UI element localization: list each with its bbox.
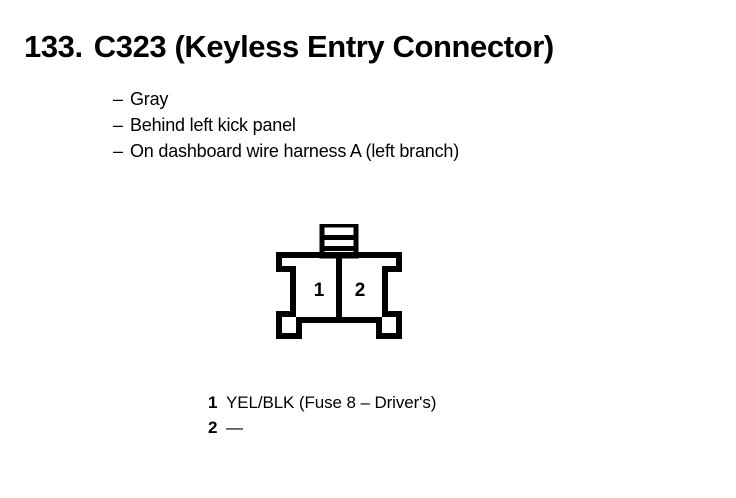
title-text: C323 (Keyless Entry Connector) [94, 31, 554, 62]
tab-slot-divider-upper [324, 235, 354, 240]
cavity-number-2: 2 [355, 280, 366, 301]
pin-legend-number: 2 [208, 415, 226, 440]
pin-legend-description: — [226, 415, 243, 440]
connector-diagram: 1 2 [275, 224, 460, 342]
note-item: – On dashboard wire harness A (left bran… [113, 138, 673, 164]
page-canvas: 133. C323 (Keyless Entry Connector) – Gr… [0, 0, 736, 498]
cavity-number-1: 1 [314, 280, 325, 301]
page-title: 133. C323 (Keyless Entry Connector) [24, 31, 554, 62]
note-item-label: On dashboard wire harness A (left branch… [130, 138, 459, 164]
pin-legend-description: YEL/BLK (Fuse 8 – Driver's) [226, 390, 436, 415]
pin-legend-row: 2 — [208, 415, 436, 440]
note-item: – Gray [113, 86, 673, 112]
note-item-label: Behind left kick panel [130, 112, 296, 138]
notes-list: – Gray – Behind left kick panel – On das… [113, 86, 673, 164]
note-item: – Behind left kick panel [113, 112, 673, 138]
bullet-dash-icon: – [113, 112, 130, 138]
pin-legend-row: 1 YEL/BLK (Fuse 8 – Driver's) [208, 390, 436, 415]
bullet-dash-icon: – [113, 86, 130, 112]
bullet-dash-icon: – [113, 138, 130, 164]
pin-legend: 1 YEL/BLK (Fuse 8 – Driver's) 2 — [208, 390, 436, 440]
connector-locking-tab [322, 225, 356, 256]
cavity-divider [336, 257, 342, 319]
tab-slot-divider-lower [324, 246, 354, 251]
note-item-label: Gray [130, 86, 168, 112]
title-number: 133. [24, 31, 83, 62]
tab-outline [322, 225, 356, 256]
connector-illustration: 1 2 [275, 224, 460, 342]
pin-legend-number: 1 [208, 390, 226, 415]
